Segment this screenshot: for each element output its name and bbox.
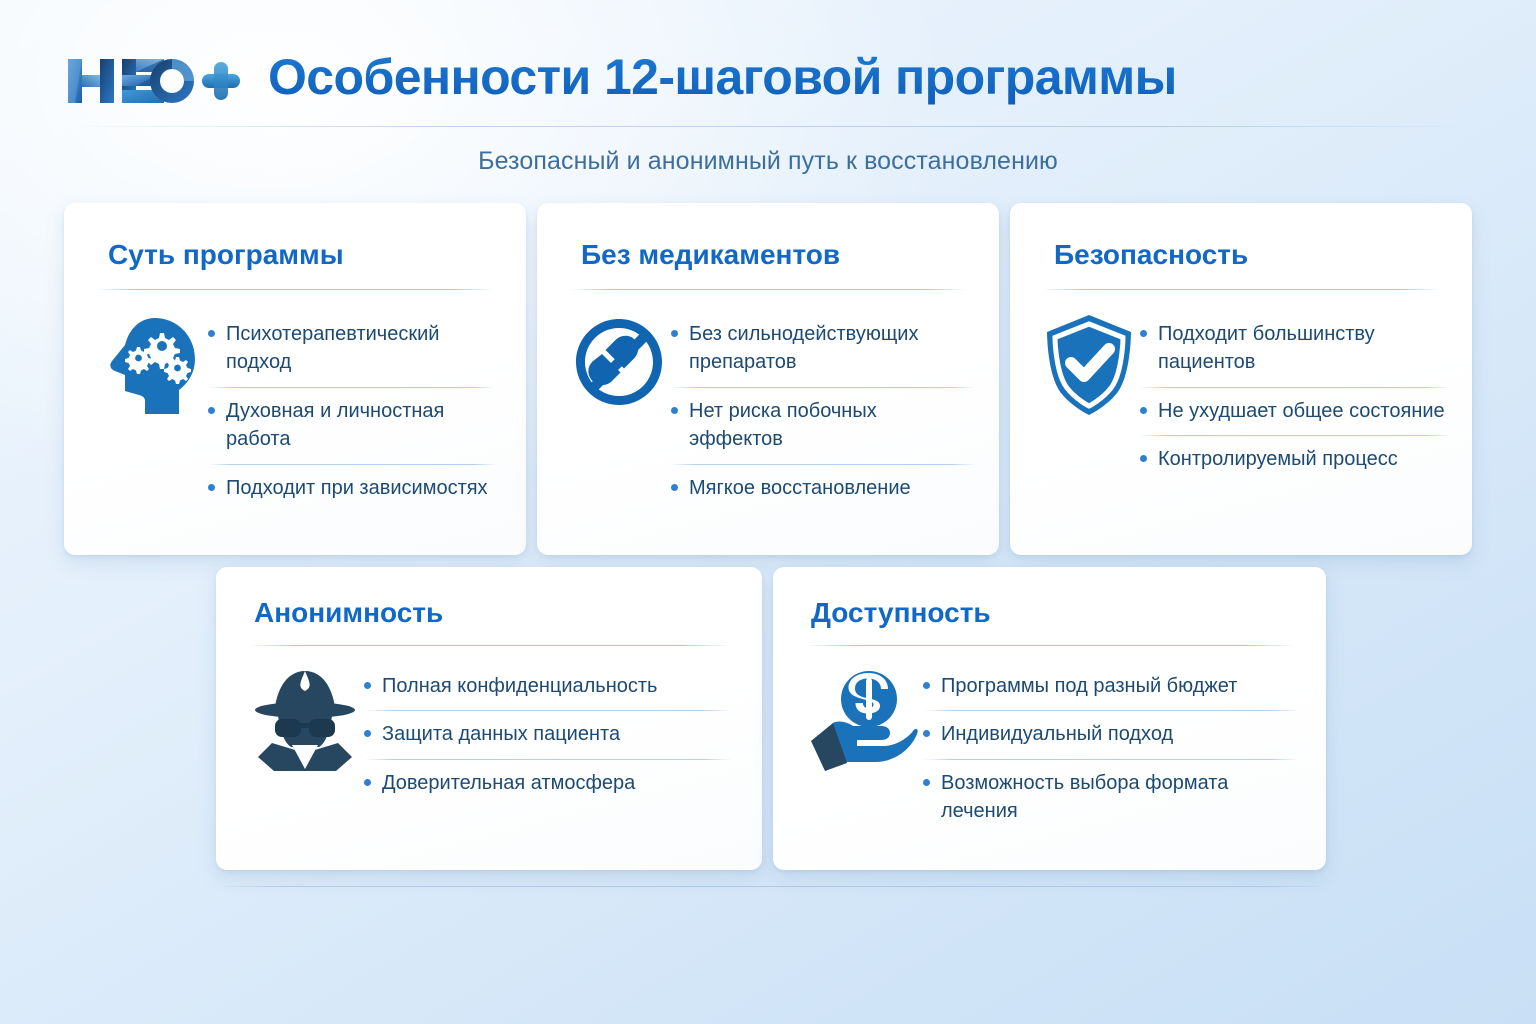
card-title: Безопасность	[1054, 239, 1248, 271]
bullet-text: Возможность выбора формата лечения	[941, 769, 1299, 826]
card-anonimnost: Анонимность	[216, 567, 762, 870]
bullet-dot-icon	[1140, 330, 1147, 337]
bullet-text: Полная конфиденциальность	[382, 672, 657, 700]
bullet-dot-icon	[671, 407, 678, 414]
list-item: Духовная и личностная работа	[208, 388, 496, 464]
bullet-dot-icon	[1140, 455, 1147, 462]
card-title-divider	[1042, 289, 1440, 290]
bullet-list: Психотерапевтический подход Духовная и л…	[208, 311, 496, 512]
card-body: Подходит большинству пациентов Не ухудша…	[1038, 311, 1450, 484]
bullet-text: Без сильнодействующих препаратов	[689, 320, 975, 377]
card-title: Анонимность	[254, 597, 443, 629]
bullet-text: Защита данных пациента	[382, 720, 620, 748]
list-item: Подходит большинству пациентов	[1140, 311, 1450, 387]
bullet-dot-icon	[923, 682, 930, 689]
card-sut-programmy: Суть программы	[64, 203, 526, 555]
bullet-text: Подходит большинству пациентов	[1158, 320, 1450, 377]
bullet-list: Без сильнодействующих препаратов Нет рис…	[671, 311, 975, 512]
card-title-divider	[805, 645, 1295, 646]
list-item: Нет риска побочных эффектов	[671, 388, 975, 464]
list-item: Не ухудшает общее состояние	[1140, 388, 1450, 435]
bullet-dot-icon	[364, 730, 371, 737]
bullet-text: Духовная и личностная работа	[226, 397, 496, 454]
card-dostupnost: Доступность	[773, 567, 1326, 870]
card-title-divider	[96, 289, 494, 290]
list-item: Психотерапевтический подход	[208, 311, 496, 387]
card-bez-medikamentov: Без медикаментов Без	[537, 203, 999, 555]
infographic-page: Особенности 12-шаговой программы Безопас…	[0, 0, 1536, 1024]
list-item: Программы под разный бюджет	[923, 663, 1299, 710]
list-item: Индивидуальный подход	[923, 711, 1299, 758]
bullet-text: Психотерапевтический подход	[226, 320, 496, 377]
bullet-text: Доверительная атмосфера	[382, 769, 635, 797]
no-pills-icon	[567, 311, 671, 409]
bullet-dot-icon	[923, 730, 930, 737]
bullet-text: Программы под разный бюджет	[941, 672, 1237, 700]
page-title: Особенности 12-шаговой программы	[268, 48, 1177, 106]
bullet-dot-icon	[671, 330, 678, 337]
card-title: Суть программы	[108, 239, 344, 271]
list-item: Возможность выбора формата лечения	[923, 760, 1299, 836]
bullet-dot-icon	[671, 484, 678, 491]
list-item: Подходит при зависимостях	[208, 465, 496, 512]
card-body: Психотерапевтический подход Духовная и л…	[98, 311, 496, 512]
bullet-text: Не ухудшает общее состояние	[1158, 397, 1445, 425]
incognito-person-icon	[246, 663, 364, 773]
card-title: Доступность	[811, 597, 991, 629]
header-divider	[62, 126, 1474, 127]
bullet-text: Контролируемый процесс	[1158, 445, 1398, 473]
bullet-list: Программы под разный бюджет Индивидуальн…	[923, 663, 1299, 836]
bullet-list: Полная конфиденциальность Защита данных …	[364, 663, 732, 807]
list-item: Контролируемый процесс	[1140, 436, 1450, 483]
card-title-divider	[248, 645, 730, 646]
bullet-dot-icon	[923, 779, 930, 786]
bullet-dot-icon	[208, 484, 215, 491]
bullet-dot-icon	[208, 330, 215, 337]
list-item: Доверительная атмосфера	[364, 760, 732, 807]
neo-plus-logo	[66, 54, 242, 108]
card-bezopasnost: Безопасность Подходит большинству пациен…	[1010, 203, 1472, 555]
list-item: Защита данных пациента	[364, 711, 732, 758]
bullet-text: Индивидуальный подход	[941, 720, 1173, 748]
page-subtitle: Безопасный и анонимный путь к восстановл…	[0, 147, 1536, 176]
card-body: Программы под разный бюджет Индивидуальн…	[799, 663, 1299, 836]
bullet-list: Подходит большинству пациентов Не ухудша…	[1140, 311, 1450, 484]
bullet-dot-icon	[364, 682, 371, 689]
header: Особенности 12-шаговой программы Безопас…	[0, 0, 1536, 128]
list-item: Мягкое восстановление	[671, 465, 975, 512]
card-title: Без медикаментов	[581, 239, 840, 271]
head-with-gears-icon	[98, 311, 208, 417]
bullet-dot-icon	[364, 779, 371, 786]
bullet-dot-icon	[208, 407, 215, 414]
bullet-dot-icon	[1140, 407, 1147, 414]
card-body: Без сильнодействующих препаратов Нет рис…	[567, 311, 975, 512]
bottom-divider	[216, 886, 1328, 887]
list-item: Без сильнодействующих препаратов	[671, 311, 975, 387]
card-title-divider	[569, 289, 967, 290]
neo-plus-logo-icon	[66, 55, 242, 107]
hand-holding-coin-icon	[799, 663, 923, 771]
list-item: Полная конфиденциальность	[364, 663, 732, 710]
bullet-text: Нет риска побочных эффектов	[689, 397, 975, 454]
bullet-text: Мягкое восстановление	[689, 474, 911, 502]
shield-check-icon	[1038, 311, 1140, 417]
card-body: Полная конфиденциальность Защита данных …	[246, 663, 732, 807]
bullet-text: Подходит при зависимостях	[226, 474, 488, 502]
